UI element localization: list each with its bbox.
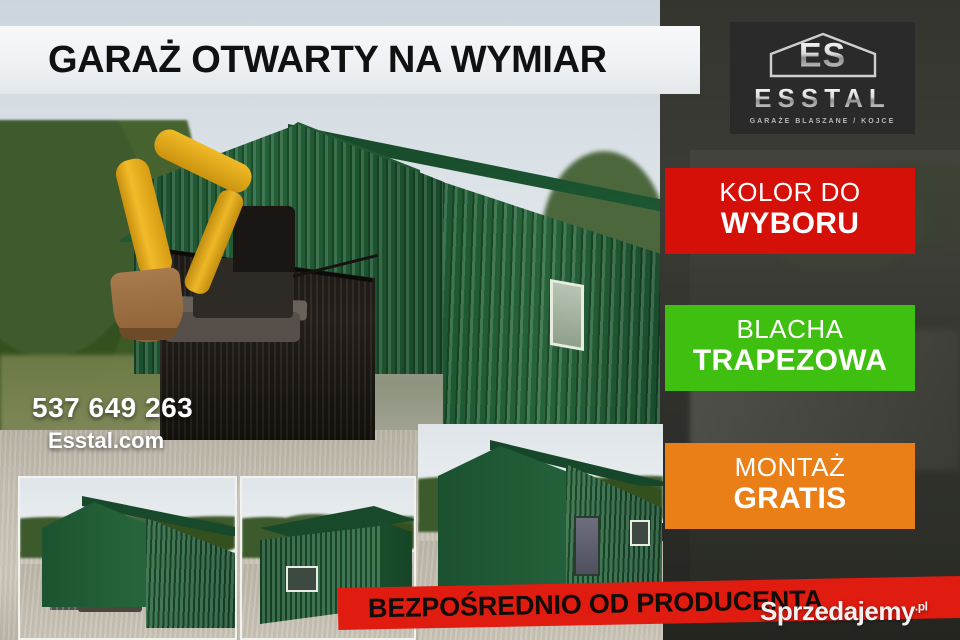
badge-line1: MONTAŻ — [665, 453, 915, 482]
logo-house-mark: ES — [767, 31, 879, 79]
badge-line2: GRATIS — [665, 482, 915, 516]
thumbnail-photo-1 — [18, 476, 237, 640]
advertisement-poster: 537 649 263 Esstal.com GARAŻ OTWARTY NA … — [0, 0, 960, 640]
title-band: GARAŻ OTWARTY NA WYMIAR — [0, 26, 700, 94]
garage-side-door — [574, 516, 600, 576]
company-logo: ES ESSTAL GARAŻE BLASZANE / KOJCE — [730, 22, 915, 134]
garage-window — [550, 279, 584, 351]
logo-monogram: ES — [799, 36, 846, 75]
badge-kolor-do-wyboru: KOLOR DO WYBORU — [665, 168, 915, 254]
watermark-tld: .pl — [915, 599, 928, 613]
badge-blacha-trapezowa: BLACHA TRAPEZOWA — [665, 305, 915, 391]
phone-number[interactable]: 537 649 263 — [32, 392, 193, 424]
logo-tagline: GARAŻE BLASZANE / KOJCE — [750, 118, 896, 125]
excavator-cab — [233, 206, 295, 272]
badge-line2: TRAPEZOWA — [665, 344, 915, 378]
garage-window — [630, 520, 650, 546]
watermark: Sprzedajemy.pl — [760, 596, 927, 627]
logo-wordmark: ESSTAL — [754, 83, 891, 114]
badge-line1: BLACHA — [665, 315, 915, 344]
bottom-banner-text: BEZPOŚREDNIO OD PRODUCENTA — [368, 584, 823, 624]
page-title: GARAŻ OTWARTY NA WYMIAR — [48, 41, 607, 79]
badge-montaz-gratis: MONTAŻ GRATIS — [665, 443, 915, 529]
badge-line1: KOLOR DO — [665, 178, 915, 207]
watermark-name: Sprzedajemy — [760, 596, 915, 626]
website-url[interactable]: Esstal.com — [48, 428, 164, 454]
excavator-bucket-lip — [119, 328, 177, 340]
garage-window — [286, 566, 318, 592]
excavator — [105, 140, 305, 355]
garage-gable-wall — [438, 446, 568, 596]
excavator-boom — [113, 156, 175, 281]
badge-line2: WYBORU — [665, 207, 915, 241]
